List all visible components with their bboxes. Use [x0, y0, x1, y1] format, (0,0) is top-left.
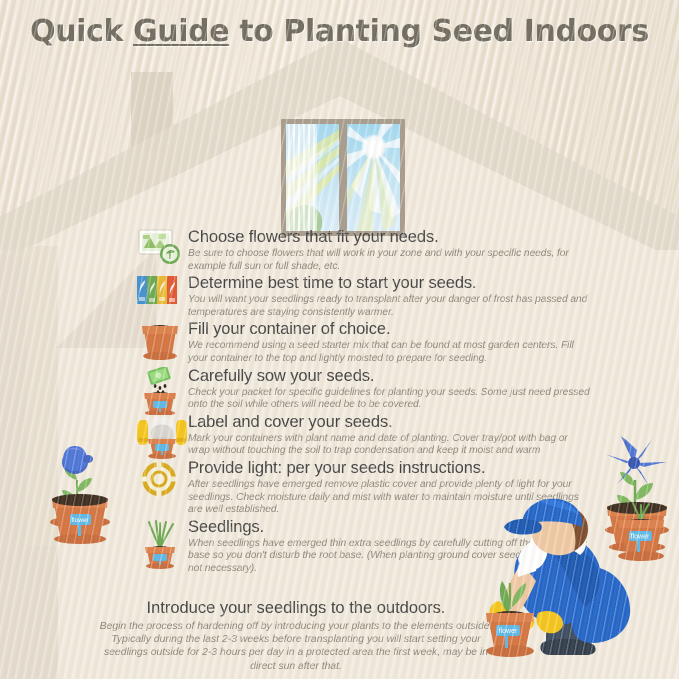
step-body: You will want your seedlings ready to tr…	[188, 294, 592, 319]
step-item: Fill your container of choice. We recomm…	[136, 320, 592, 365]
step-item: Determine best time to start your seeds.…	[136, 274, 592, 319]
seed-packets-icon	[136, 274, 184, 318]
footer-section: Introduce your seedlings to the outdoors…	[96, 598, 496, 673]
empty-pot-icon	[136, 320, 184, 364]
step-heading: Label and cover your seeds.	[188, 413, 592, 432]
gloves-covered-pot-icon	[136, 413, 184, 457]
window-pane-right	[347, 124, 400, 231]
step-item: Label and cover your seeds. Mark your co…	[136, 413, 592, 458]
step-heading: Provide light: per your seeds instructio…	[188, 459, 592, 478]
step-heading: Carefully sow your seeds.	[188, 367, 592, 386]
pot-label-text: flower	[499, 628, 518, 635]
window-pane-left	[286, 124, 339, 231]
step-heading: Choose flowers that fit your needs.	[188, 228, 592, 247]
title-part-underlined: Guide	[133, 14, 229, 49]
blue-bell-flower-pot-illustration: flower	[44, 418, 116, 548]
curtain-left	[286, 124, 317, 231]
seedling-pot-illustration: flower	[604, 500, 678, 566]
sun-icon	[361, 134, 387, 160]
step-body: We recommend using a seed starter mix th…	[188, 340, 592, 365]
sun-light-icon	[136, 459, 184, 503]
step-body: Check your packet for specific guideline…	[188, 387, 592, 412]
pot-label-text: flower	[71, 517, 89, 524]
step-heading: Determine best time to start your seeds.	[188, 274, 592, 293]
step-item: Carefully sow your seeds. Check your pac…	[136, 367, 592, 412]
seed-catalog-icon	[136, 228, 184, 272]
corner-seedling-pot: flower	[604, 500, 678, 566]
title-part-before: Quick	[30, 14, 133, 49]
footer-heading: Introduce your seedlings to the outdoors…	[96, 598, 496, 618]
left-decorative-pot: flower	[44, 418, 116, 548]
footer-body: Begin the process of hardening off by in…	[96, 620, 496, 673]
step-item: Choose flowers that fit your needs. Be s…	[136, 228, 592, 273]
seedling-pot-icon	[136, 518, 184, 562]
infographic-canvas: Quick Guide to Planting Seed Indoors	[0, 0, 679, 679]
window-illustration	[281, 119, 405, 236]
pot-label-text: flower	[631, 534, 650, 541]
window-mullion	[340, 119, 347, 236]
step-heading: Fill your container of choice.	[188, 320, 592, 339]
title-part-after: to Planting Seed Indoors	[229, 14, 649, 49]
sowing-seeds-icon	[136, 367, 184, 411]
step-body: Be sure to choose flowers that will work…	[188, 248, 592, 273]
page-title: Quick Guide to Planting Seed Indoors	[0, 14, 679, 49]
step-body: Mark your containers with plant name and…	[188, 433, 592, 458]
